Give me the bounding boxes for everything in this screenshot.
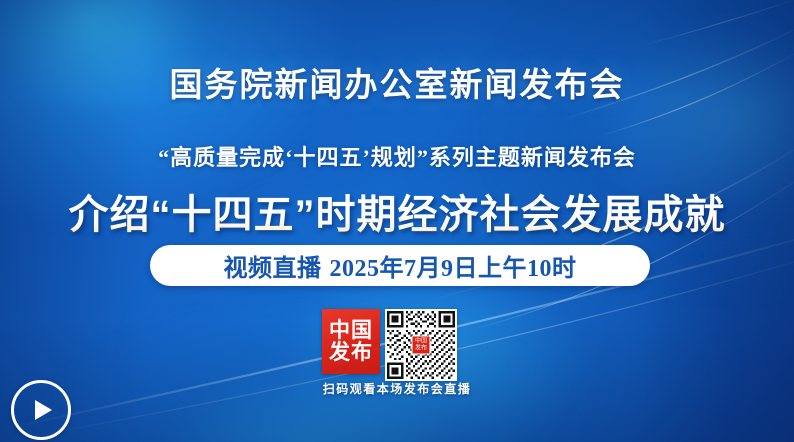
live-label: 视频直播 <box>224 256 322 282</box>
qr-code[interactable]: 中国 发布 <box>385 309 457 381</box>
scan-block: 中国 发布 <box>322 309 457 381</box>
poster-canvas: 国务院新闻办公室新闻发布会 “高质量完成‘十四五’规划”系列主题新闻发布会 介绍… <box>0 0 794 442</box>
china-release-logo: 中国 发布 <box>322 309 380 374</box>
scan-caption: 扫码观看本场发布会直播 <box>0 380 794 397</box>
live-broadcast-badge[interactable]: 视频直播2025年7月9日上午10时 <box>150 245 650 286</box>
live-datetime: 2025年7月9日上午10时 <box>330 256 577 282</box>
qr-badge-line-2: 发布 <box>415 345 427 351</box>
poster-content: 国务院新闻办公室新闻发布会 “高质量完成‘十四五’规划”系列主题新闻发布会 介绍… <box>0 0 794 442</box>
qr-center-logo: 中国 发布 <box>412 336 431 355</box>
logo-line-1: 中国 <box>329 320 373 342</box>
logo-line-2: 发布 <box>329 342 373 364</box>
series-subtitle: “高质量完成‘十四五’规划”系列主题新闻发布会 <box>0 140 794 172</box>
headline: 介绍“十四五”时期经济社会发展成就 <box>0 182 794 240</box>
live-broadcast-text: 视频直播2025年7月9日上午10时 <box>224 248 577 283</box>
play-button[interactable] <box>11 380 71 440</box>
play-icon <box>35 400 52 420</box>
page-title: 国务院新闻办公室新闻发布会 <box>0 58 794 106</box>
